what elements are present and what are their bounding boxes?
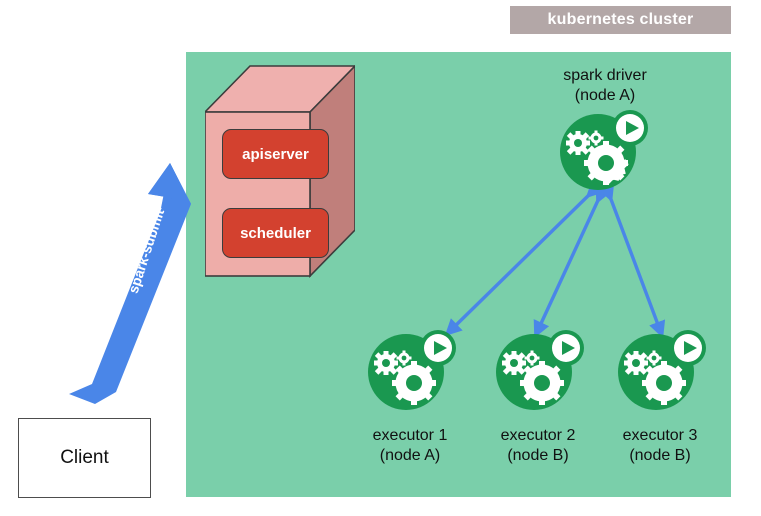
executor-3-title: executor 3 (585, 426, 735, 446)
diagram-canvas: kubernetes cluster apiserver scheduler s… (0, 0, 761, 516)
apiserver-module[interactable]: apiserver (222, 129, 329, 179)
client-box[interactable]: Client (18, 418, 151, 498)
gears-play-icon (360, 330, 460, 410)
scheduler-module-label: scheduler (240, 225, 311, 242)
kubernetes-cluster-label-text: kubernetes cluster (548, 11, 694, 29)
scheduler-module[interactable]: scheduler (222, 208, 329, 258)
executor-3-node[interactable] (610, 330, 710, 410)
executor-1-node[interactable] (360, 330, 460, 410)
spark-submit-arrow-icon (58, 160, 218, 410)
gears-play-icon (610, 330, 710, 410)
spark-driver-caption: spark driver (node A) (530, 66, 680, 106)
spark-driver-node[interactable] (552, 110, 652, 190)
client-label: Client (60, 447, 109, 469)
executor-3-subtitle: (node B) (585, 446, 735, 466)
kubernetes-cluster-label: kubernetes cluster (510, 6, 731, 34)
spark-submit-arrow (58, 160, 218, 410)
gears-play-icon (552, 110, 652, 190)
gears-play-icon (488, 330, 588, 410)
executor-3-caption: executor 3 (node B) (585, 426, 735, 466)
spark-driver-title: spark driver (530, 66, 680, 86)
apiserver-module-label: apiserver (242, 146, 309, 163)
executor-2-node[interactable] (488, 330, 588, 410)
spark-driver-subtitle: (node A) (530, 86, 680, 106)
